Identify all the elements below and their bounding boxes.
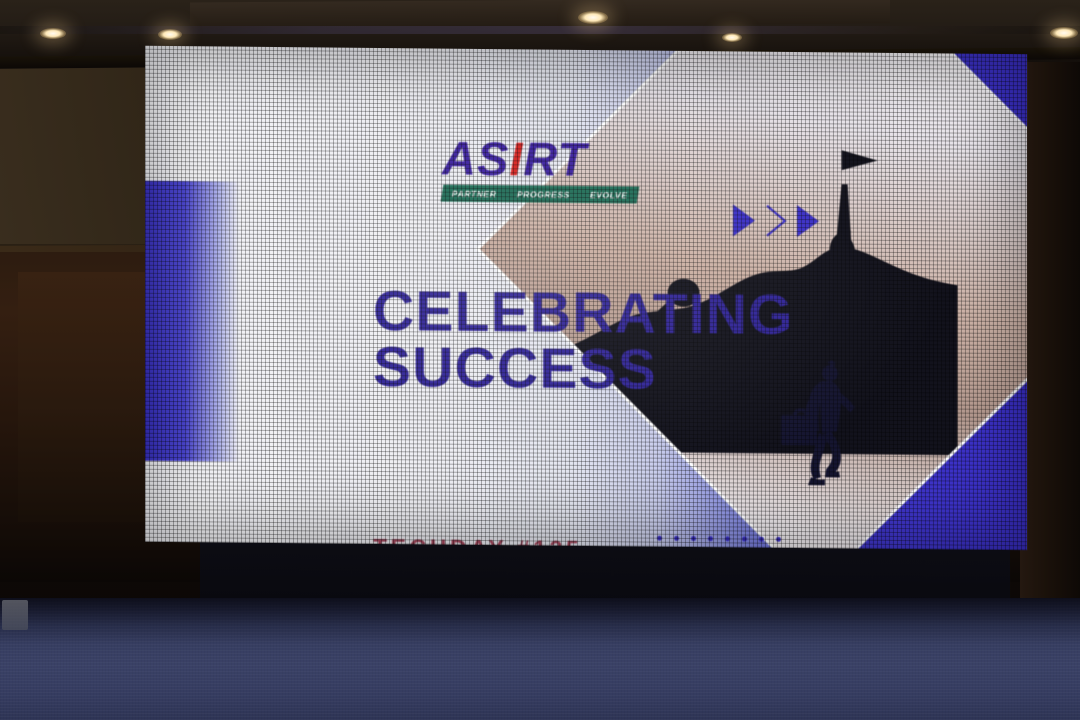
play-arrow-solid-icon (797, 205, 819, 237)
matrix-dot (759, 537, 764, 542)
ceiling-beam (190, 0, 890, 28)
led-screen-surface: ASIRT PARTNER PROGRESS EVOLVE (145, 46, 1027, 550)
conference-hall-scene: ASIRT PARTNER PROGRESS EVOLVE (0, 0, 1080, 720)
headline-line-2: SUCCESS (373, 342, 794, 396)
slide-headline: CELEBRATING SUCCESS (373, 286, 794, 396)
play-arrows-decoration (733, 203, 819, 238)
matrix-dot (691, 536, 696, 541)
logo-tagline-bar: PARTNER PROGRESS EVOLVE (441, 184, 640, 203)
presentation-slide: ASIRT PARTNER PROGRESS EVOLVE (145, 46, 1027, 550)
ceiling-spotlight (722, 33, 742, 42)
tagline-progress: PROGRESS (517, 188, 570, 199)
asirt-logo: ASIRT PARTNER PROGRESS EVOLVE (442, 137, 642, 204)
wall-right-shadow (1020, 60, 1080, 620)
ceiling-spotlight (578, 11, 608, 24)
matrix-dot (657, 536, 662, 541)
matrix-dot (742, 536, 747, 541)
matrix-dot (776, 537, 781, 542)
logo-letters-as: AS (442, 132, 509, 186)
matrix-dot (725, 536, 730, 541)
tagline-evolve: EVOLVE (590, 189, 628, 199)
play-arrow-outline-icon (764, 204, 788, 238)
asirt-wordmark: ASIRT (442, 137, 642, 184)
play-arrow-solid-icon (733, 204, 755, 236)
logo-accent-letter-i: I (509, 132, 523, 185)
left-blue-accent-block (145, 181, 240, 462)
floor-shadow (0, 598, 1080, 644)
led-video-wall: ASIRT PARTNER PROGRESS EVOLVE (145, 46, 1027, 610)
ceiling-spotlight (40, 28, 66, 39)
matrix-dot (674, 536, 679, 541)
tagline-partner: PARTNER (452, 188, 497, 198)
ceiling-spotlight (158, 29, 182, 40)
floor-object (2, 600, 28, 630)
ceiling-spotlight (1050, 27, 1078, 39)
matrix-dot (708, 536, 713, 541)
logo-letters-rt: RT (523, 132, 587, 186)
